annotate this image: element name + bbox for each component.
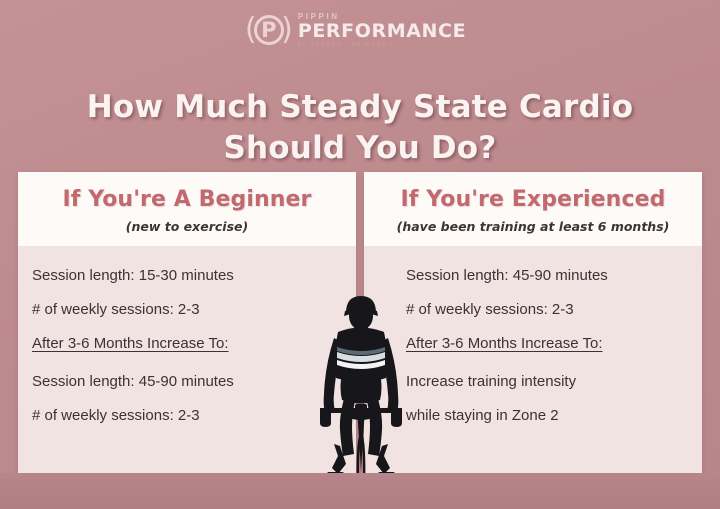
panel-beginner: If You're A Beginner (new to exercise) S… [18, 172, 356, 473]
logo-letter-p: P [254, 15, 284, 45]
brand-wordmark: PIPPIN PERFORMANCE BE STRONG · BE MOBILE [298, 13, 466, 48]
brand-name-main: PERFORMANCE [298, 22, 466, 41]
list-item: # of weekly sessions: 2-3 [32, 408, 356, 423]
bottom-strip [0, 473, 720, 509]
panel-beginner-title: If You're A Beginner [62, 187, 311, 212]
page-title-line-2: Should You Do? [0, 128, 720, 169]
panel-experienced: If You're Experienced (have been trainin… [364, 172, 702, 473]
panel-experienced-header: If You're Experienced (have been trainin… [364, 172, 702, 246]
brand-logo: ( P ) PIPPIN PERFORMANCE BE STRONG · BE … [0, 9, 720, 51]
paren-right-glyph: ) [281, 15, 293, 45]
brand-tagline: BE STRONG · BE MOBILE [298, 43, 395, 48]
list-item: Session length: 45-90 minutes [406, 268, 702, 283]
panel-beginner-subtitle: (new to exercise) [126, 219, 248, 234]
brand-name-top: PIPPIN [298, 13, 340, 21]
list-item: Session length: 15-30 minutes [32, 268, 356, 283]
pippin-monogram-icon: ( P ) [254, 15, 284, 45]
panel-beginner-header: If You're A Beginner (new to exercise) [18, 172, 356, 246]
panel-experienced-title: If You're Experienced [401, 187, 666, 212]
list-item: # of weekly sessions: 2-3 [406, 302, 702, 317]
list-item: # of weekly sessions: 2-3 [32, 302, 356, 317]
infographic-poster: ( P ) PIPPIN PERFORMANCE BE STRONG · BE … [0, 0, 720, 509]
list-item-heading: After 3-6 Months Increase To: [406, 336, 702, 351]
list-item: Session length: 45-90 minutes [32, 374, 356, 389]
list-item: while staying in Zone 2 [406, 408, 702, 423]
page-title-line-1: How Much Steady State Cardio [0, 87, 720, 128]
list-item-heading: After 3-6 Months Increase To: [32, 336, 356, 351]
panel-beginner-body: Session length: 15-30 minutes # of weekl… [18, 246, 356, 423]
panel-experienced-subtitle: (have been training at least 6 months) [397, 219, 670, 234]
panel-experienced-body: Session length: 45-90 minutes # of weekl… [364, 246, 702, 423]
page-title: How Much Steady State Cardio Should You … [0, 87, 720, 169]
list-item: Increase training intensity [406, 374, 702, 389]
